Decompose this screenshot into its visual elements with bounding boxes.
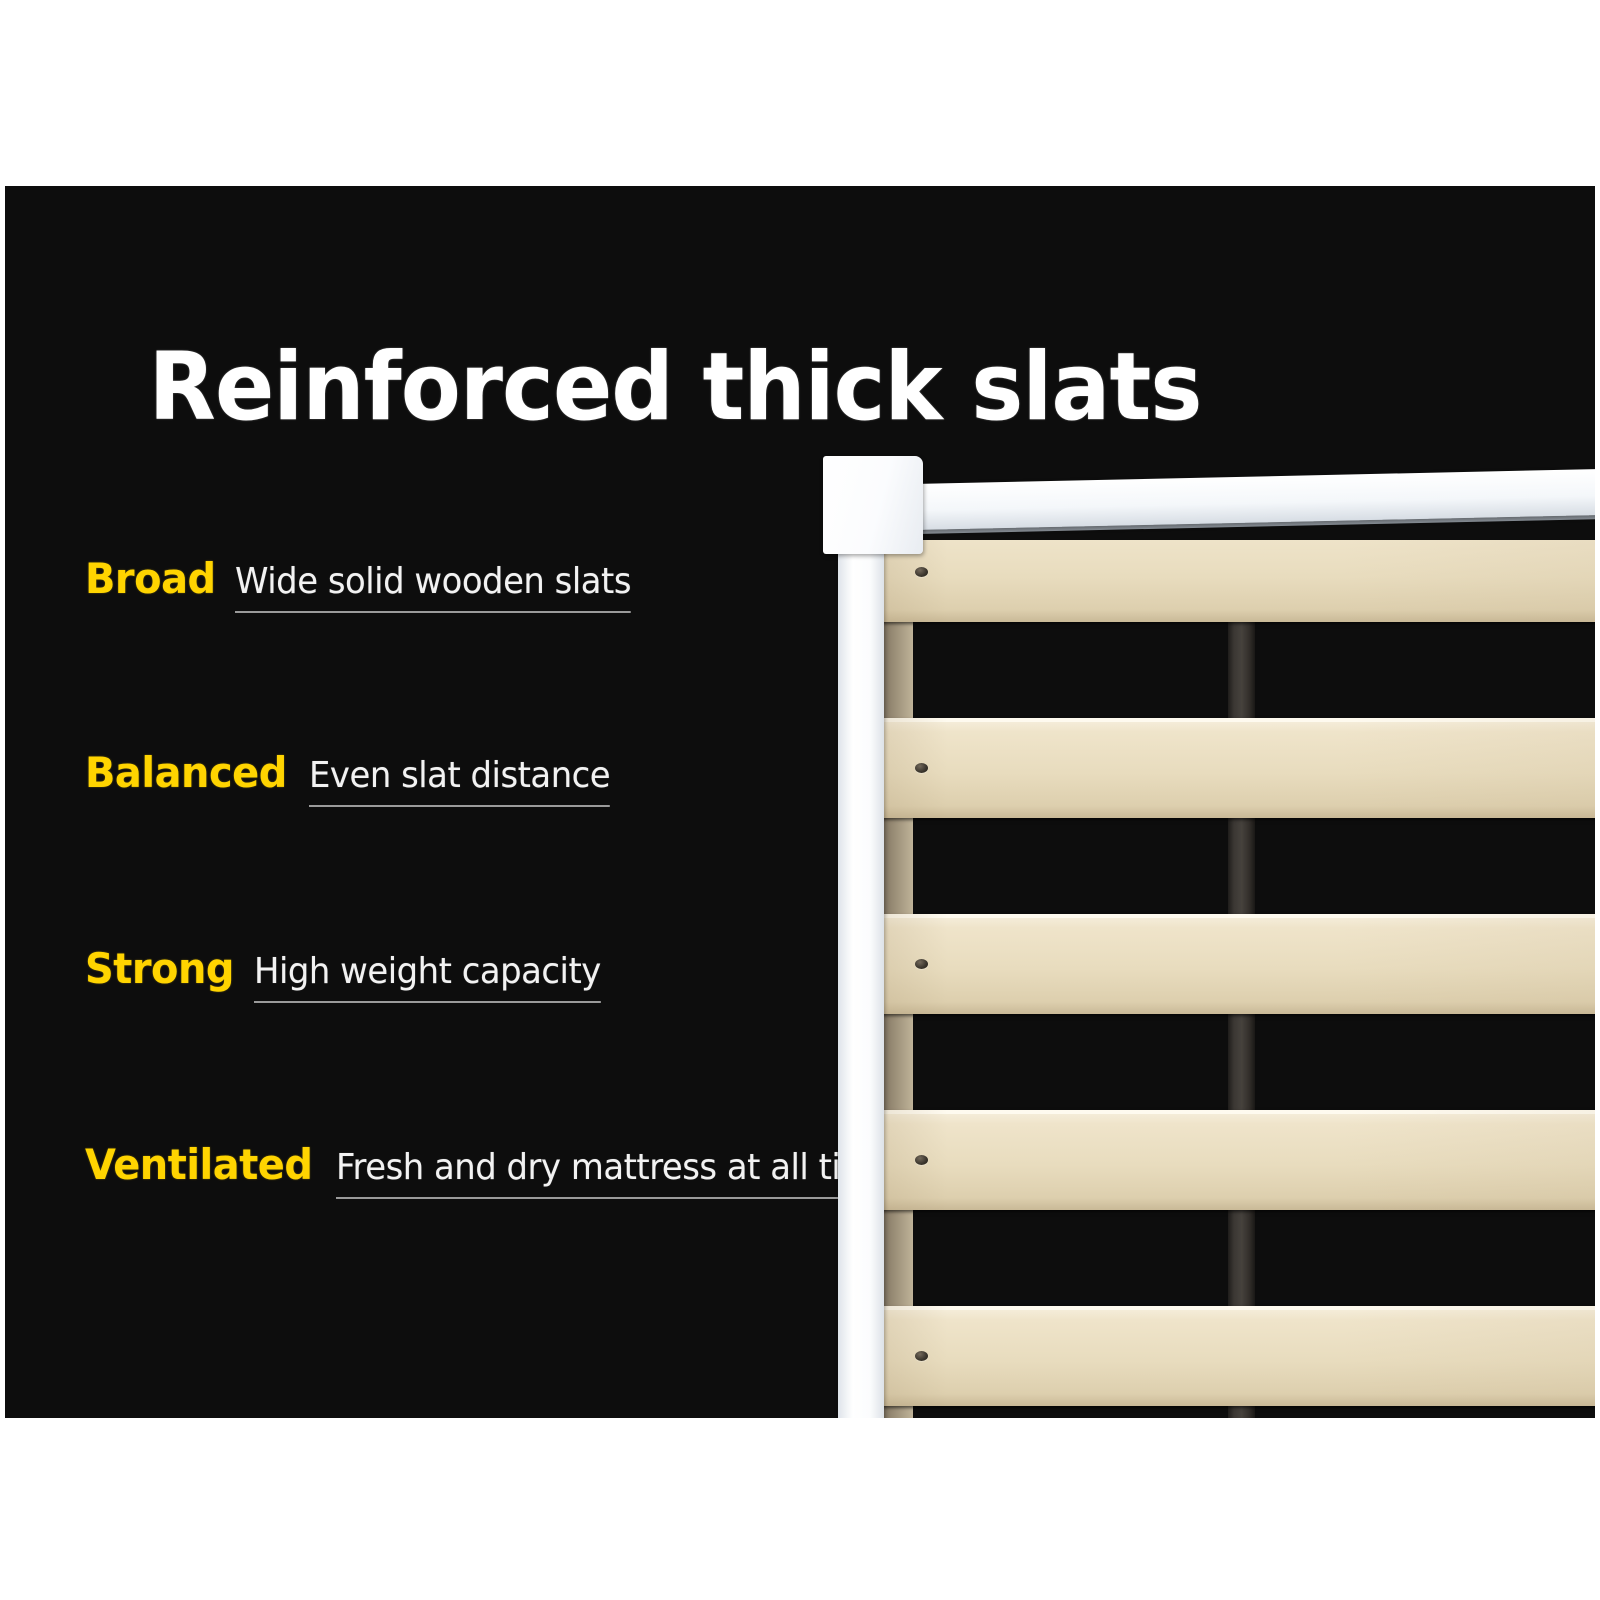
slat-base: [873, 540, 1595, 1418]
slat-screw: [915, 567, 928, 577]
feature-description: High weight capacity: [254, 951, 601, 1003]
feature-item-balanced: Balanced Even slat distance: [85, 748, 630, 807]
wooden-slat: [881, 1306, 1595, 1406]
slat-screw: [915, 1351, 928, 1361]
feature-term: Broad: [85, 554, 216, 603]
slat-screw: [915, 959, 928, 969]
feature-term: Strong: [85, 944, 234, 993]
feature-description: Wide solid wooden slats: [235, 561, 631, 613]
product-photo: [813, 448, 1595, 1418]
bed-frame-post-cap: [823, 456, 923, 554]
feature-panel: Reinforced thick slats Broad Wide solid …: [5, 186, 1595, 1418]
slat-screw: [915, 1155, 928, 1165]
feature-term: Balanced: [85, 748, 287, 797]
wooden-slat: [881, 1110, 1595, 1210]
slat-screw: [915, 763, 928, 773]
wooden-slat: [881, 718, 1595, 818]
wooden-slat: [881, 914, 1595, 1014]
feature-item-strong: Strong High weight capacity: [85, 944, 623, 1003]
wooden-slat: [881, 540, 1595, 622]
feature-term: Ventilated: [85, 1140, 312, 1189]
feature-item-broad: Broad Wide solid wooden slats: [85, 554, 656, 613]
feature-description: Even slat distance: [309, 755, 610, 807]
page-title: Reinforced thick slats: [52, 341, 1298, 435]
bed-frame-post-leg: [838, 544, 884, 1418]
page-canvas: Reinforced thick slats Broad Wide solid …: [0, 0, 1600, 1600]
